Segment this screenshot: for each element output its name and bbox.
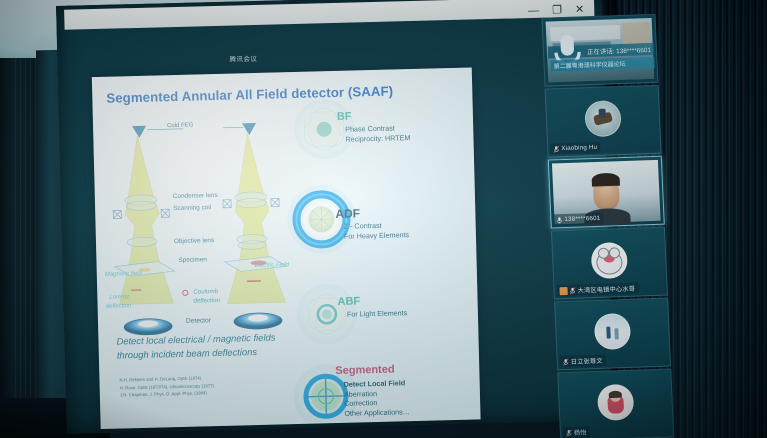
mode-desc-line: Detect Local Field (344, 378, 410, 389)
participant-namebar: 大湾区电镜中心水哥 (556, 283, 638, 297)
slide-conclusion: Detect local electrical / magnetic field… (116, 331, 276, 362)
participant-tile[interactable]: 大湾区电镜中心水哥 (551, 227, 668, 300)
participant-namebar: 杨怡 (563, 426, 590, 438)
label-coulomb-deflection-line1: Coulomb (193, 288, 218, 296)
label-objective-lens: Objective lens (174, 237, 214, 245)
microphone-muted-icon (553, 145, 559, 153)
mode-heading-abf: ABF (337, 295, 360, 308)
label-scanning-coil: Scanning coil (173, 204, 211, 212)
participant-name: 138****6601 (564, 215, 600, 223)
app-label: 腾讯会议 (229, 53, 257, 64)
participant-tile[interactable]: 日立张尊文 (554, 298, 671, 371)
projection-screen: — ❐ ✕ 腾讯会议 Segmented Annular All Field d… (56, 0, 613, 434)
conference-room-photo: — ❐ ✕ 腾讯会议 Segmented Annular All Field d… (0, 0, 767, 438)
microphone-muted-icon (569, 286, 575, 294)
mode-desc-line: Reciprocity: HRTEM (345, 133, 410, 144)
mode-desc-line: For Light Elements (347, 308, 408, 319)
participant-sidebar[interactable]: 正在讲话: 138****6601 第二届粤港澳科学仪器论坛 (541, 14, 677, 432)
restore-icon[interactable]: ❐ (552, 5, 562, 16)
label-detector: Detector (186, 317, 211, 325)
participant-tile[interactable]: 杨怡 (557, 368, 674, 438)
mode-desc-bf: Phase Contrast Reciprocity: HRTEM (345, 123, 410, 144)
meeting-subtitle-text: 第二届粤港澳科学仪器论坛 (553, 59, 625, 70)
mode-desc-abf: For Light Elements (347, 308, 408, 319)
participant-name: 杨怡 (574, 427, 587, 436)
participant-tile-active[interactable]: 138****6601 (548, 156, 665, 229)
close-icon[interactable]: ✕ (575, 4, 584, 15)
participant-name: 日立张尊文 (571, 356, 603, 366)
participant-namebar: 138****6601 (553, 213, 603, 226)
participant-name: 大湾区电镜中心水哥 (577, 284, 635, 295)
mode-heading-adf: ADF (335, 206, 360, 221)
mode-heading-bf: BF (337, 111, 352, 123)
citation-item: J.N. Chapman, J. Phys. D: Appl. Phys. (1… (120, 389, 214, 399)
mode-desc-segmented: Detect Local Field Aberration Correction… (344, 378, 410, 419)
label-cold-feg: Cold FEG (167, 123, 193, 130)
participant-namebar: Xiaobing Hu (550, 142, 600, 155)
host-badge-icon (559, 286, 567, 294)
label-lorentz-deflection-line2: deflection (106, 303, 132, 310)
mode-heading-segmented: Segmented (335, 364, 395, 377)
participant-tile[interactable]: Xiaobing Hu (545, 85, 662, 158)
label-condenser-lens: Condenser lens (173, 192, 218, 200)
minimize-icon[interactable]: — (528, 5, 539, 16)
label-coulomb-deflection-line2: deflection (193, 297, 220, 305)
microphone-muted-icon (563, 357, 569, 365)
mode-desc-line: Other Applications… (344, 407, 410, 418)
mode-desc-adf: Z - Contrast For Heavy Elements (344, 220, 410, 241)
label-lorentz-deflection-line1: Lorentz (109, 294, 129, 301)
label-specimen: Specimen (178, 256, 207, 264)
shared-slide: Segmented Annular All Field detector (SA… (92, 68, 481, 430)
mode-desc-line: For Heavy Elements (344, 230, 409, 241)
label-magnetic-field: Magnetic field (105, 271, 142, 278)
active-speaker-label: 正在讲话: 138****6601 (587, 45, 651, 56)
participant-name: Xiaobing Hu (561, 144, 597, 152)
left-wall-shadow (0, 58, 14, 438)
citation-list: N.H. Dekkers and H. DeLang, Optik (1974)… (119, 374, 214, 399)
participant-namebar: 日立张尊文 (560, 355, 606, 368)
microphone-muted-icon (566, 428, 572, 436)
microphone-icon (556, 216, 562, 224)
participant-tile[interactable]: 正在讲话: 138****6601 第二届粤港澳科学仪器论坛 (541, 14, 658, 87)
